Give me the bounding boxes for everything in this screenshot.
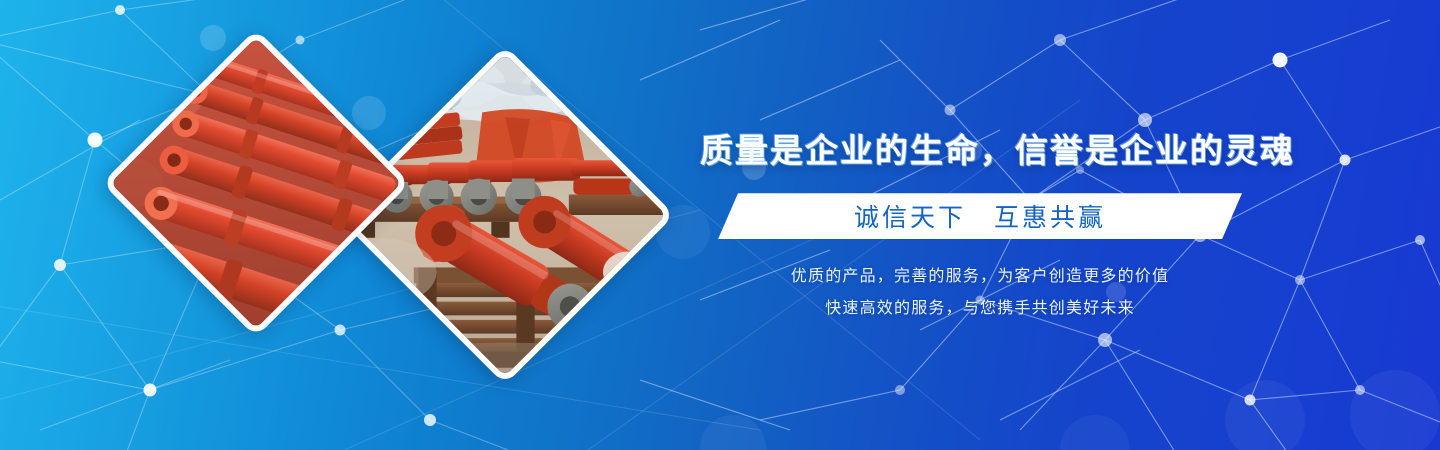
banner-subtext: 优质的产品，完善的服务，为客户创造更多的价值 快速高效的服务，与您携手共创美好未… bbox=[700, 261, 1260, 325]
decorative-blob bbox=[1225, 380, 1305, 450]
decorative-blob bbox=[352, 96, 386, 130]
ribbon-text-row: 诚信天下 互惠共赢 bbox=[700, 193, 1260, 239]
ribbon-slogan-right: 互惠共赢 bbox=[994, 198, 1106, 234]
subtext-line-2: 快速高效的服务，与您携手共创美好未来 bbox=[700, 293, 1260, 325]
ribbon-slogan-left: 诚信天下 bbox=[854, 198, 966, 234]
decorative-blob bbox=[700, 415, 766, 450]
decorative-blob bbox=[1350, 370, 1440, 450]
decorative-blob bbox=[1060, 415, 1130, 450]
banner-copy: 质量是企业的生命，信誉是企业的灵魂 诚信天下 互惠共赢 优质的产品，完善的服务，… bbox=[700, 130, 1260, 325]
banner-headline: 质量是企业的生命，信誉是企业的灵魂 bbox=[700, 130, 1260, 171]
decorative-blob bbox=[200, 25, 226, 51]
product-photo-universal-joint-shafts bbox=[102, 29, 410, 337]
slogan-ribbon: 诚信天下 互惠共赢 bbox=[700, 193, 1260, 239]
promotional-banner: 质量是企业的生命，信誉是企业的灵魂 诚信天下 互惠共赢 优质的产品，完善的服务，… bbox=[0, 0, 1440, 450]
product-photo-drive-shafts-pallets bbox=[335, 45, 674, 384]
subtext-line-1: 优质的产品，完善的服务，为客户创造更多的价值 bbox=[700, 261, 1260, 293]
